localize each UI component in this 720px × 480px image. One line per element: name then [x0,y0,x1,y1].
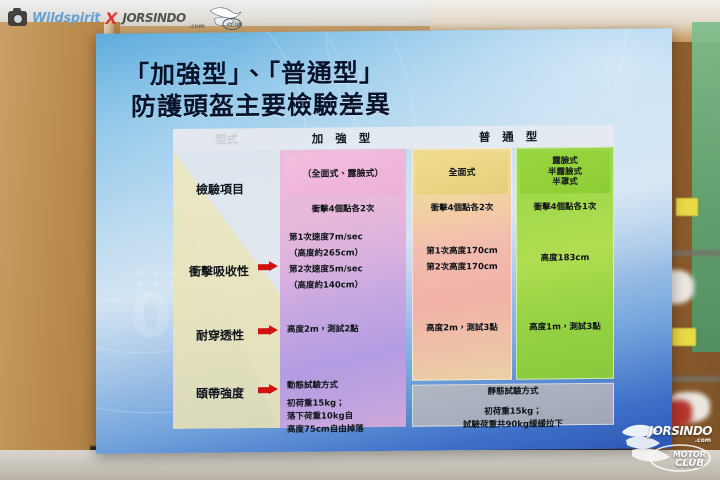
watermark-partner-suffix: .com [189,23,205,31]
row-label-penetration: 耐穿透性 [196,326,244,343]
svg-text:CLUB: CLUB [227,23,242,29]
green-wall-strip [692,22,720,352]
floor-background [0,450,720,480]
watermark-bottom-right: JORSINDO .com MOTOR CLUB [618,418,714,474]
row-label-impact: 衝擊吸收性 [189,262,249,280]
subheader-normal-full: 全面式 [416,152,508,195]
header-group-normal: 普 通 型 [406,128,614,146]
cell-impact-normal-open-1: 高度183cm [516,252,614,267]
subheader-normal-open-line2: 半露臉式 [548,167,582,178]
cell-impact-normal-full-0: 衝擊4個點各2次 [412,202,512,217]
shelf-label-tag [676,198,698,216]
cell-impact-normal-full-2: 第2次高度170cm [412,261,512,276]
title-line-1: 「加強型」、「普通型」 [124,57,391,92]
row-arrow-impact [258,261,278,272]
cell-impact-normal-full-1: 第1次高度170cm [412,245,512,260]
watermark-bottom-club: CLUB [675,458,704,469]
watermark-bottom-brand: JORSINDO [649,424,712,438]
cell-chinstrap-normal-0: 靜態試驗方式 [412,385,614,401]
cell-penetration-enhanced: 高度2m，測試2點 [287,323,407,338]
subheader-normal-open-line3: 半罩式 [548,177,582,188]
watermark-top-left: Wildspirit X JORSINDO .com CLUB [8,5,242,31]
shelf-label-tag [672,328,696,346]
title-line-2: 防護頭盔主要檢驗差異 [124,89,391,124]
cell-impact-enhanced-1: 第1次速度7m/sec [289,231,407,246]
cell-chinstrap-normal-2: 試驗荷重共90kg緩緩拉下 [412,418,614,434]
cell-impact-enhanced-4: （高度約140cm） [289,279,407,294]
helmet-comparison-poster: 0 10 2 01001 10010 ● ● ● ● ● ● ● ● ● ● ●… [96,28,672,454]
row-arrow-penetration [258,325,278,336]
ghost-number: 0 [130,281,174,351]
cell-impact-enhanced-3: 第2次速度5m/sec [289,263,407,278]
watermark-separator: X [105,9,117,28]
watermark-brand: Wildspirit [32,11,100,26]
bird-logo-icon: CLUB [208,5,242,31]
row-arrow-chinstrap [258,384,278,395]
photo-scene: 0 10 2 01001 10010 ● ● ● ● ● ● ● ● ● ● ●… [0,0,720,480]
camera-icon [8,11,27,26]
cell-chinstrap-enhanced-3: 高度75cm自由掉落 [287,423,407,438]
cell-impact-enhanced-0: 衝擊4個點各2次 [284,203,402,218]
header-group-enhanced: 加 強 型 [280,130,406,147]
subheader-enhanced: （全面式、露臉式） [284,153,402,196]
cell-impact-enhanced-2: （高度約265cm） [289,247,407,262]
watermark-partner: JORSINDO [122,11,185,25]
cell-penetration-normal-full: 高度2m，測試3點 [412,322,512,337]
watermark-bottom-suffix: .com [695,437,711,444]
cell-penetration-normal-open: 高度1m，測試3點 [516,321,614,336]
row-label-chinstrap: 頤帶強度 [196,384,244,401]
comparison-table: 型式 加 強 型 普 通 型 檢驗項目 衝擊吸收性 耐穿透性 頤帶強度 （全面式… [173,125,614,429]
page-title: 「加強型」、「普通型」 防護頭盔主要檢驗差異 [124,57,391,124]
cell-impact-normal-open-0: 衝擊4個點各1次 [516,201,614,216]
subheader-normal-open-line1: 露臉式 [548,157,582,168]
row-axis-label: 檢驗項目 [196,180,244,197]
subheader-normal-open: 露臉式 半露臉式 半罩式 [520,151,610,194]
cell-chinstrap-enhanced-0: 動態試驗方式 [287,379,407,394]
